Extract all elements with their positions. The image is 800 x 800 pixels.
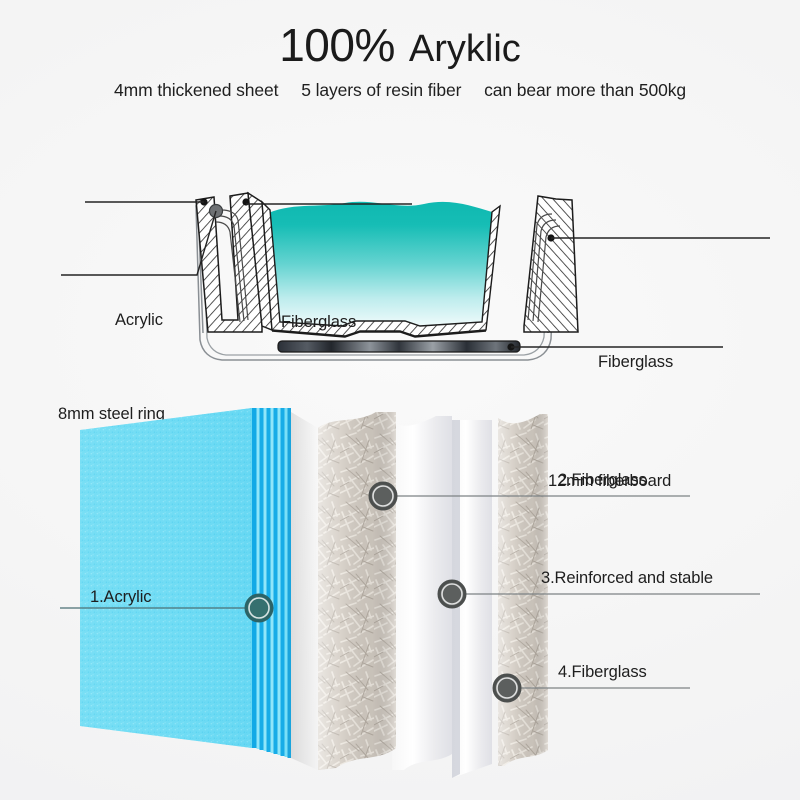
layer1-acrylic-edge-stripes <box>252 408 291 758</box>
layer1-acrylic-speckle <box>80 408 252 748</box>
layer2-shading <box>318 412 396 770</box>
product-infographic: 100%Aryklic 4mm thickened sheet 5 layers… <box>0 0 800 800</box>
label-layer3-reinforced: 3.Reinforced and stable <box>541 569 713 588</box>
bathtub-cross-section-diagram: Acrylic Fiberglass Fiberglass 8mm steel … <box>0 140 800 405</box>
feature-item-2: 5 layers of resin fiber <box>301 80 461 100</box>
label-fiberglass-right: Fiberglass <box>598 353 673 372</box>
label-fiberglass-top: Fiberglass <box>281 313 356 332</box>
fiberboard-plank <box>278 341 520 352</box>
right-rim-hatch <box>524 196 578 332</box>
cross-section-svg <box>0 140 800 405</box>
layer4-callout-dot <box>494 675 520 701</box>
title-product: Aryklic <box>409 28 521 70</box>
feature-item-1: 4mm thickened sheet <box>114 80 278 100</box>
feature-item-3: can bear more than 500kg <box>484 80 686 100</box>
layer3-callout-dot <box>439 581 465 607</box>
layer-stack-diagram: 1.Acrylic 2.Fiberglass 3.Reinforced and … <box>0 398 800 800</box>
feature-list: 4mm thickened sheet 5 layers of resin fi… <box>0 80 800 101</box>
water-fill <box>264 202 492 330</box>
label-layer1-acrylic: 1.Acrylic <box>90 588 151 607</box>
layer4-shading <box>498 414 548 766</box>
steel-ring-leader-line <box>61 211 216 275</box>
acrylic-drop-shadow <box>291 412 318 770</box>
title-percent: 100% <box>279 19 395 71</box>
label-layer4-fiberglass: 4.Fiberglass <box>558 663 647 682</box>
layer1-callout-dot <box>246 595 272 621</box>
label-layer2-fiberglass: 2.Fiberglass <box>558 471 647 490</box>
label-acrylic: Acrylic <box>115 311 163 330</box>
layer2-callout-dot <box>370 483 396 509</box>
page-title: 100%Aryklic <box>0 18 800 72</box>
